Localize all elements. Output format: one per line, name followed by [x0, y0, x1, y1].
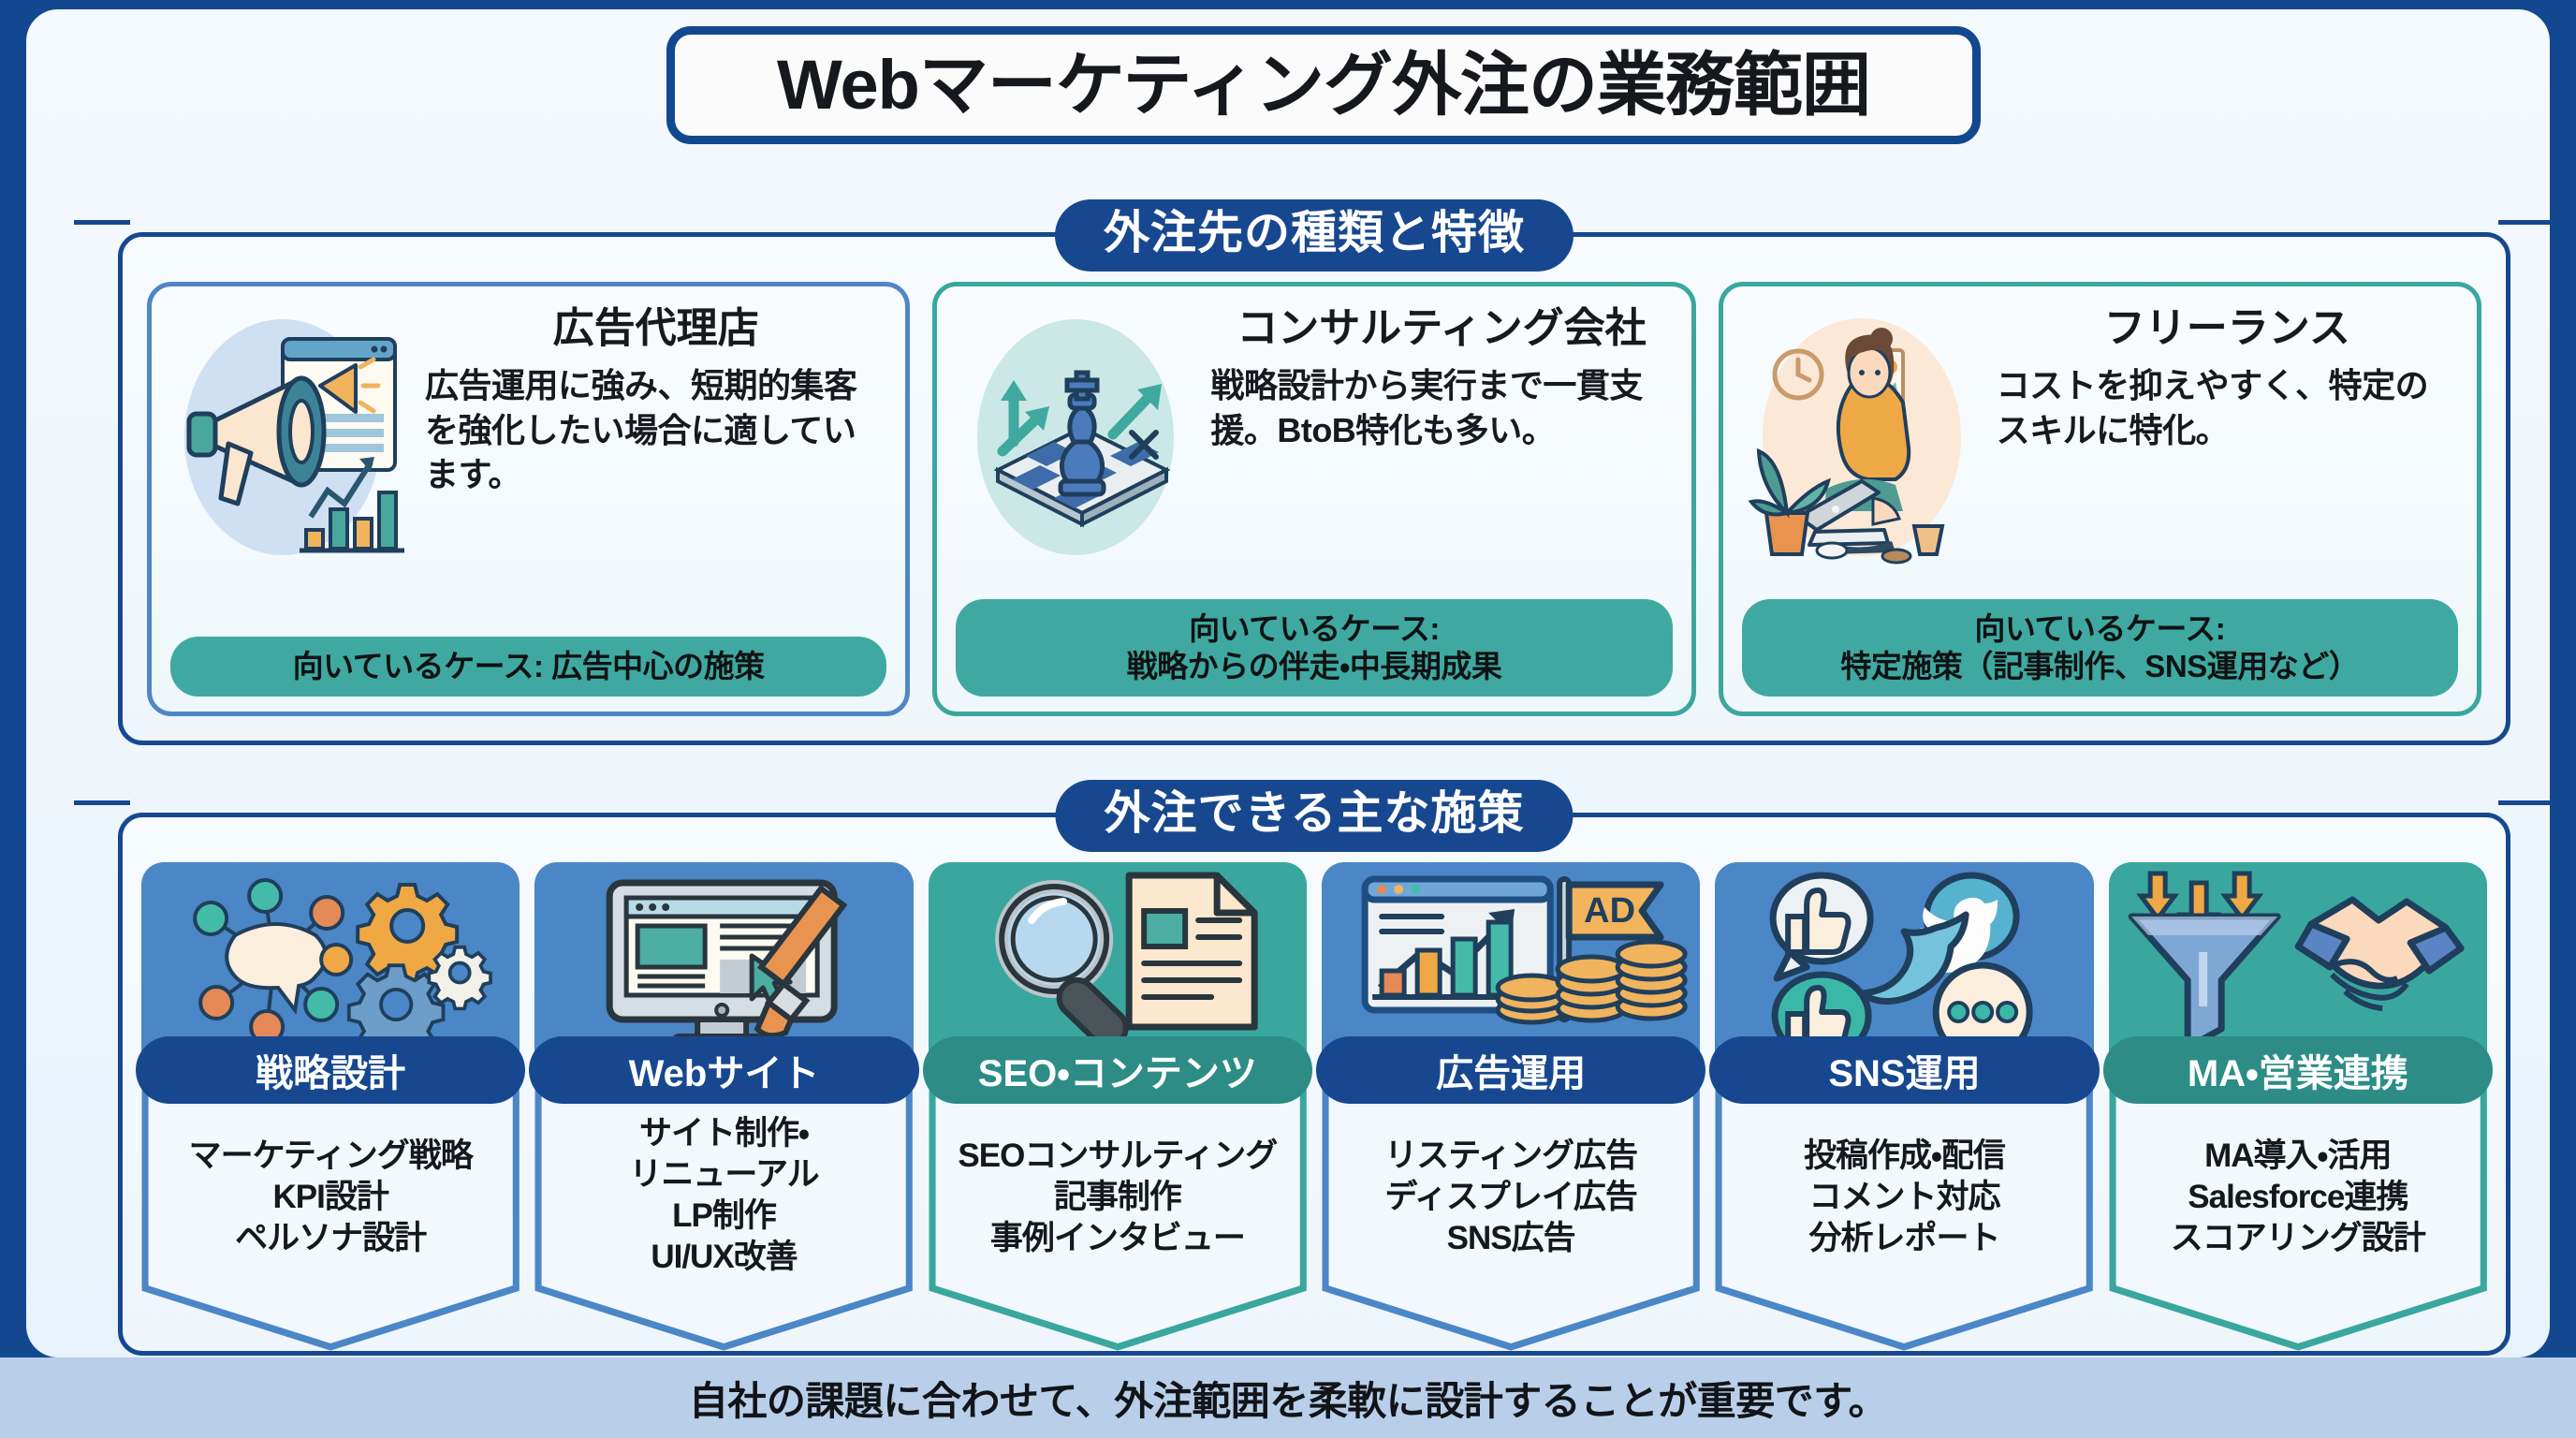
measure-item: SNS広告 [1322, 1218, 1700, 1259]
network-gears-icon [141, 862, 520, 1057]
measure-item: 分析レポート [1715, 1218, 2093, 1259]
measure-item-list: サイト制作・ リニューアル LP制作 UI/UX改善 [534, 1113, 913, 1278]
measure-item: マーケティング戦略 [141, 1136, 520, 1177]
measure-card-ma-sales-integration[interactable]: MA・営業連携 MA導入・活用 Salesforce連携 スコアリング設計 [2109, 862, 2487, 1351]
partner-best-case-badge: 向いているケース: 戦略からの伴走・中長期成果 [956, 599, 1672, 697]
section-head-tick-right [2498, 220, 2550, 225]
partner-best-case-line2: 戦略からの伴走・中長期成果 [969, 648, 1659, 685]
measure-label: MA・営業連携 [2103, 1036, 2493, 1104]
measure-item: Salesforce連携 [2109, 1177, 2487, 1218]
section-head-tick-left [74, 800, 130, 805]
measure-card-ad-operations[interactable]: AD 広告運用 [1322, 862, 1700, 1351]
measure-item: KPI設計 [141, 1177, 520, 1218]
measure-label: Webサイト [529, 1036, 918, 1104]
measure-card-sns-operations[interactable]: SNS運用 投稿作成・配信 コメント対応 分析レポート [1715, 862, 2093, 1351]
partner-best-case-line1: 向いているケース: [1974, 611, 2225, 646]
measure-label: SEO・コンテンツ [923, 1036, 1312, 1104]
measure-item: スコアリング設計 [2109, 1218, 2487, 1259]
measure-item: リニューアル [534, 1154, 913, 1196]
section-head-tick-left [74, 220, 130, 225]
section-outsourceable-measures: 外注できる主な施策 [118, 813, 2510, 1356]
partner-card-list: 広告代理店 広告運用に強み、短期的集客を強化したい場合に適しています。 向いてい… [123, 237, 2506, 741]
measure-item: UI/UX改善 [534, 1237, 913, 1278]
measure-item: MA導入・活用 [2109, 1136, 2487, 1177]
section-heading-measures: 外注できる主な施策 [1055, 780, 1573, 852]
measure-card-list: 戦略設計 マーケティング戦略 KPI設計 ペルソナ設計 [123, 817, 2506, 1351]
measure-item: 記事制作 [929, 1177, 1307, 1218]
measure-label: 戦略設計 [136, 1036, 525, 1104]
ad-flag-coins-chart-icon: AD [1322, 862, 1700, 1057]
partner-card-upper: フリーランス コストを抑えやすく、特定のスキルに特化。 [1742, 301, 2458, 599]
poster-panel: Webマーケティング外注の業務範囲 外注先の種類と特徴 [26, 9, 2550, 1357]
measure-item: コメント対応 [1715, 1177, 2093, 1218]
partner-description: 広告運用に強み、短期的集客を強化したい場合に適しています。 [425, 363, 886, 497]
measure-item: リスティング広告 [1322, 1136, 1700, 1177]
partner-card-upper: 広告代理店 広告運用に強み、短期的集客を強化したい場合に適しています。 [170, 301, 886, 637]
social-like-bird-icon [1715, 862, 2093, 1057]
partner-best-case-badge: 向いているケース: 特定施策（記事制作、SNS運用など） [1742, 599, 2458, 697]
measure-item: 事例インタビュー [929, 1218, 1307, 1259]
section-head-tick-right [2498, 800, 2550, 805]
measure-item: LP制作 [534, 1196, 913, 1237]
measure-item: 投稿作成・配信 [1715, 1136, 2093, 1177]
partner-card-ad-agency[interactable]: 広告代理店 広告運用に強み、短期的集客を強化したい場合に適しています。 向いてい… [147, 282, 910, 716]
partner-card-text: コンサルティング会社 戦略設計から実行まで一貫支援。BtoB特化も多い。 [1208, 301, 1672, 452]
partner-description: コストを抑えやすく、特定のスキルに特化。 [1997, 363, 2458, 452]
magnifier-document-icon [929, 862, 1307, 1057]
measure-item-list: SEOコンサルティング 記事制作 事例インタビュー [929, 1136, 1307, 1259]
partner-description: 戦略設計から実行まで一貫支援。BtoB特化も多い。 [1210, 363, 1672, 452]
funnel-handshake-icon [2109, 862, 2487, 1057]
partner-card-text: フリーランス コストを抑えやすく、特定のスキルに特化。 [1995, 301, 2458, 452]
partner-best-case-line1: 向いているケース: 広告中心の施策 [293, 649, 765, 683]
measure-item-list: リスティング広告 ディスプレイ広告 SNS広告 [1322, 1136, 1700, 1259]
poster-title-text: Webマーケティング外注の業務範囲 [777, 51, 1870, 120]
megaphone-chart-icon [170, 301, 423, 573]
partner-name: フリーランス [1997, 307, 2458, 350]
freelancer-laptop-icon [1742, 301, 1995, 573]
measure-item-list: マーケティング戦略 KPI設計 ペルソナ設計 [141, 1136, 520, 1259]
infographic-poster: Webマーケティング外注の業務範囲 外注先の種類と特徴 [0, 0, 2576, 1438]
measure-card-seo-content[interactable]: SEO・コンテンツ SEOコンサルティング 記事制作 事例インタビュー [929, 862, 1307, 1351]
section-heading-partners: 外注先の種類と特徴 [1055, 199, 1573, 271]
measure-item-list: 投稿作成・配信 コメント対応 分析レポート [1715, 1136, 2093, 1259]
partner-best-case-line1: 向いているケース: [1189, 611, 1440, 646]
footer-band: 自社の課題に合わせて、外注範囲を柔軟に設計することが重要です。 [0, 1357, 2576, 1438]
measure-item: サイト制作・ [534, 1113, 913, 1154]
partner-name: コンサルティング会社 [1210, 307, 1672, 350]
measure-item-list: MA導入・活用 Salesforce連携 スコアリング設計 [2109, 1136, 2487, 1259]
partner-card-text: 広告代理店 広告運用に強み、短期的集客を強化したい場合に適しています。 [423, 301, 886, 497]
svg-text:AD: AD [1584, 891, 1635, 931]
partner-card-upper: コンサルティング会社 戦略設計から実行まで一貫支援。BtoB特化も多い。 [956, 301, 1672, 599]
partner-name: 広告代理店 [425, 307, 886, 350]
measure-card-strategy-design[interactable]: 戦略設計 マーケティング戦略 KPI設計 ペルソナ設計 [141, 862, 520, 1351]
monitor-paintbrush-icon [534, 862, 913, 1057]
section-outsourcing-partners: 外注先の種類と特徴 [118, 232, 2510, 745]
footer-message: 自社の課題に合わせて、外注範囲を柔軟に設計することが重要です。 [689, 1370, 1887, 1427]
chess-king-board-icon [956, 301, 1208, 573]
measure-item: SEOコンサルティング [929, 1136, 1307, 1177]
measure-item: ペルソナ設計 [141, 1218, 520, 1259]
partner-best-case-line2: 特定施策（記事制作、SNS運用など） [1755, 648, 2445, 685]
measure-label: 広告運用 [1316, 1036, 1705, 1104]
partner-card-consulting-firm[interactable]: コンサルティング会社 戦略設計から実行まで一貫支援。BtoB特化も多い。 向いて… [932, 282, 1695, 716]
partner-best-case-badge: 向いているケース: 広告中心の施策 [170, 637, 886, 697]
poster-title: Webマーケティング外注の業務範囲 [666, 26, 1981, 144]
measure-label: SNS運用 [1709, 1036, 2099, 1104]
partner-card-freelancer[interactable]: フリーランス コストを抑えやすく、特定のスキルに特化。 向いているケース: 特定… [1719, 282, 2481, 716]
measure-card-website[interactable]: Webサイト サイト制作・ リニューアル LP制作 UI/UX改善 [534, 862, 913, 1351]
measure-item: ディスプレイ広告 [1322, 1177, 1700, 1218]
